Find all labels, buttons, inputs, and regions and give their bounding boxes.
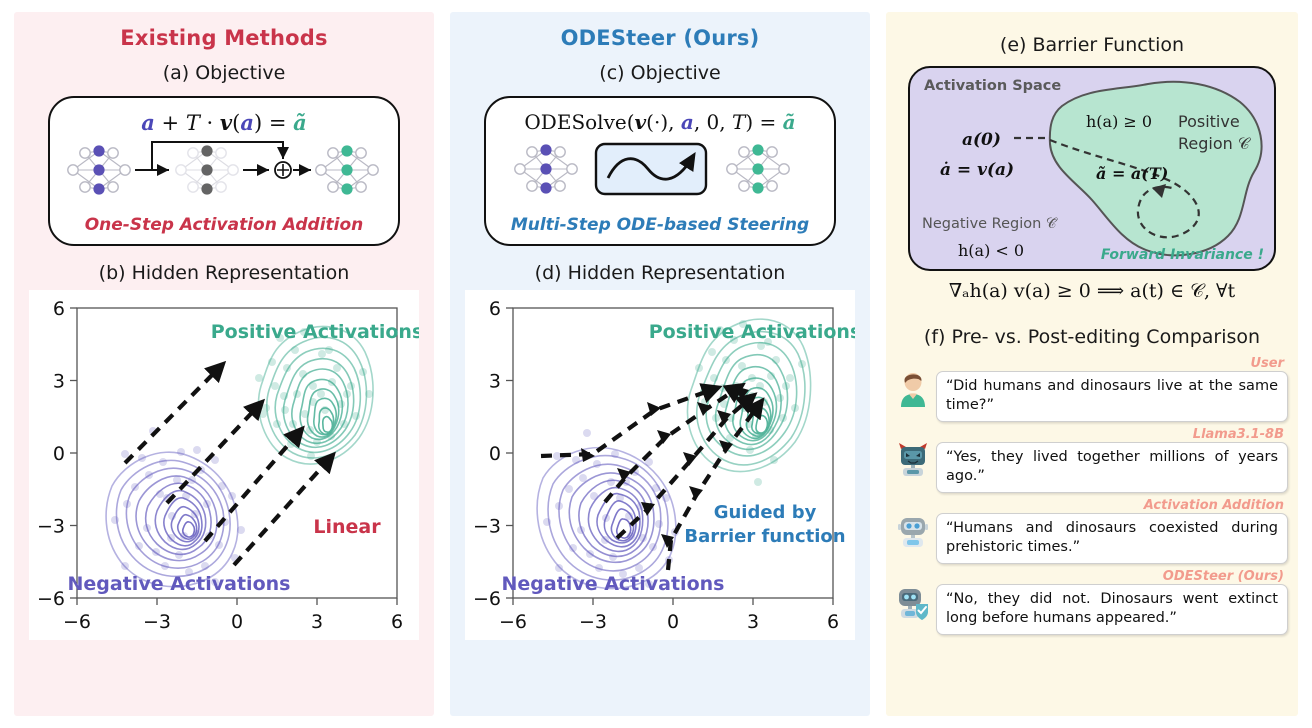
- caption-a-objective: (a) Objective: [14, 62, 434, 84]
- panel-existing-methods: Existing Methods (a) Objective a + T · v…: [14, 12, 434, 716]
- panel-title-ours: ODESteer (Ours): [450, 26, 870, 50]
- equation-a: a + T · v(a) = ã: [50, 110, 398, 135]
- atilde-equals-aT: ã = a(T): [1096, 164, 1168, 183]
- a-dot-equation: ȧ = v(a): [940, 160, 1014, 180]
- barrier-function-box: Activation Space a(0) ȧ = v(a) h(a) ≥ 0 …: [908, 66, 1276, 271]
- chat-speaker-user: User: [896, 356, 1288, 371]
- plot-d-label-positive: Positive Activations: [649, 321, 855, 343]
- negative-region-label: Negative Region 𝒞̄: [922, 216, 1057, 232]
- eq-c-a: a: [681, 110, 694, 134]
- caption-e-barrier-function: (e) Barrier Function: [886, 34, 1298, 56]
- eq-c-v: v: [635, 110, 647, 134]
- plot-b-svg: 6 3 0 −3 −6 −6 −3 0 3 6: [29, 290, 419, 640]
- caption-b-hidden-representation: (b) Hidden Representation: [14, 262, 434, 284]
- ode-steer-svg: [510, 136, 810, 202]
- devil-robot-icon: [896, 442, 930, 478]
- nn-input-purple-c: [515, 144, 577, 193]
- positive-region-line1: Positive: [1178, 112, 1240, 131]
- chat-speaker-llama: Llama3.1-8B: [896, 427, 1288, 442]
- eq-c-equals: =: [760, 110, 777, 134]
- eq-c-lparen: (: [627, 110, 635, 134]
- plot-b-label-negative: Negative Activations: [68, 573, 291, 595]
- eq-c-atilde: ã: [783, 110, 796, 134]
- eq-c-zero: 0: [707, 110, 720, 134]
- plot-b-card: 6 3 0 −3 −6 −6 −3 0 3 6: [29, 290, 419, 640]
- plot-d-xtick-3: 3: [747, 611, 759, 633]
- ode-flow-box: [596, 144, 706, 194]
- plot-b-ytick-6: 6: [53, 298, 65, 320]
- plot-d-ytick-neg3: −3: [473, 516, 501, 538]
- eq-a-dot: ·: [207, 111, 214, 135]
- user-avatar-icon: [896, 371, 930, 407]
- eq-a-atilde: ã: [293, 110, 307, 135]
- h-negative-condition: h(a) < 0: [958, 241, 1024, 260]
- nn-middle-grey: [176, 145, 238, 194]
- chat-speaker-activation-addition: Activation Addition: [896, 498, 1288, 513]
- plot-b-label-positive: Positive Activations: [211, 321, 419, 343]
- plot-b-xtick-3: 3: [311, 611, 323, 633]
- eq-a-term-a: a: [141, 110, 155, 135]
- plot-d-xtick-neg3: −3: [579, 611, 607, 633]
- positive-region-line2: Region 𝒞: [1178, 134, 1250, 154]
- eq-a-term-T: T: [186, 111, 200, 135]
- plot-d-xtick-6: 6: [827, 611, 839, 633]
- eq-a-plus: +: [162, 111, 180, 135]
- eq-a-equals: =: [269, 111, 287, 135]
- plot-b-ytick-3: 3: [53, 371, 65, 393]
- plot-b-ytick-neg6: −6: [37, 588, 65, 610]
- eq-c-fn: ODESolve: [524, 110, 626, 134]
- plot-b-xtick-neg6: −6: [63, 611, 91, 633]
- chat-bubble-llama: “Yes, they lived together millions of ye…: [936, 442, 1288, 493]
- equation-c: ODESolve(v(·), a, 0, T) = ã: [486, 110, 834, 134]
- plot-d-ytick-0: 0: [489, 443, 501, 465]
- a-zero-label: a(0): [962, 130, 1001, 150]
- caption-c-objective: (c) Objective: [450, 62, 870, 84]
- panel-theory-comparison: (e) Barrier Function Activation Space a(…: [886, 12, 1298, 716]
- objective-footer-a: One-Step Activation Addition: [50, 215, 398, 235]
- caption-d-hidden-representation: (d) Hidden Representation: [450, 262, 870, 284]
- chat-comparison-list: User “Did humans and dinosaurs live at t…: [896, 356, 1288, 635]
- chat-bubble-user: “Did humans and dinosaurs live at the sa…: [936, 371, 1288, 422]
- chat-entry-llama: Llama3.1-8B “Yes, they lived: [896, 427, 1288, 493]
- plot-d-xtick-0: 0: [667, 611, 679, 633]
- nn-output-green: [316, 145, 378, 194]
- chat-bubble-activation-addition: “Humans and dinosaurs coexisted during p…: [936, 513, 1288, 564]
- forward-invariance-label: Forward Invariance !: [1101, 247, 1264, 263]
- plot-b-ytick-neg3: −3: [37, 516, 65, 538]
- eq-c-rparen: ): [745, 110, 753, 134]
- h-positive-condition: h(a) ≥ 0: [1086, 112, 1152, 131]
- objective-footer-c: Multi-Step ODE-based Steering: [486, 215, 834, 235]
- ode-steering-diagram: [486, 138, 834, 200]
- eq-a-rparen: ): [254, 111, 262, 135]
- plot-b-ytick-0: 0: [53, 443, 65, 465]
- chat-entry-user: User “Did humans and dinosaurs live at t…: [896, 356, 1288, 422]
- plot-d-label-negative: Negative Activations: [502, 573, 725, 595]
- chat-bubble-odesteer: “No, they did not. Dinosaurs went extinc…: [936, 584, 1288, 635]
- plot-d-label-method-line1: Guided by: [714, 502, 817, 523]
- one-step-diagram: [50, 139, 398, 201]
- plot-d-ytick-3: 3: [489, 371, 501, 393]
- plot-b-xtick-0: 0: [231, 611, 243, 633]
- plot-d-svg: 6 3 0 −3 −6 −6 −3 0 3 6: [465, 290, 855, 640]
- nn-input-purple: [68, 145, 130, 194]
- objective-box-c: ODESolve(v(·), a, 0, T) = ã: [484, 96, 836, 246]
- shield-robot-icon: [896, 584, 930, 620]
- plain-robot-icon: [896, 513, 930, 549]
- eq-a-term-v: v: [220, 110, 232, 135]
- plot-d-ytick-6: 6: [489, 298, 501, 320]
- nn-output-green-c: [727, 144, 789, 193]
- plot-d-label-method-line2: Barrier function: [684, 526, 845, 547]
- figure-root: Existing Methods (a) Objective a + T · v…: [0, 0, 1312, 728]
- eq-c-cdot: (·): [646, 110, 668, 134]
- eq-c-comma1: ,: [668, 110, 674, 134]
- chat-entry-activation-addition: Activation Addition “Humans and dinosaur…: [896, 498, 1288, 564]
- activation-addition-svg: [59, 137, 389, 203]
- caption-f-comparison: (f) Pre- vs. Post-editing Comparison: [886, 326, 1298, 348]
- eq-c-comma2: ,: [694, 110, 700, 134]
- eq-c-T: T: [732, 110, 745, 134]
- objective-box-a: a + T · v(a) = ã: [48, 96, 400, 246]
- panel-title-existing: Existing Methods: [14, 26, 434, 50]
- barrier-bottom-equation: ∇ₐh(a) v(a) ≥ 0 ⟹ a(t) ∈ 𝒞, ∀t: [886, 280, 1298, 302]
- panel-odesteer-ours: ODESteer (Ours) (c) Objective ODESolve(v…: [450, 12, 870, 716]
- plot-d-card: 6 3 0 −3 −6 −6 −3 0 3 6: [465, 290, 855, 640]
- chat-entry-odesteer: ODESteer (Ours) “No, they did not. Dinos…: [896, 569, 1288, 635]
- eq-a-inner-a: a: [240, 110, 254, 135]
- plot-b-xtick-6: 6: [391, 611, 403, 633]
- activation-space-label: Activation Space: [924, 78, 1061, 94]
- chat-speaker-odesteer: ODESteer (Ours): [896, 569, 1288, 584]
- eq-c-comma3: ,: [719, 110, 725, 134]
- plot-b-label-method: Linear: [313, 516, 381, 538]
- plot-d-xtick-neg6: −6: [499, 611, 527, 633]
- plot-d-ytick-neg6: −6: [473, 588, 501, 610]
- plot-b-xtick-neg3: −3: [143, 611, 171, 633]
